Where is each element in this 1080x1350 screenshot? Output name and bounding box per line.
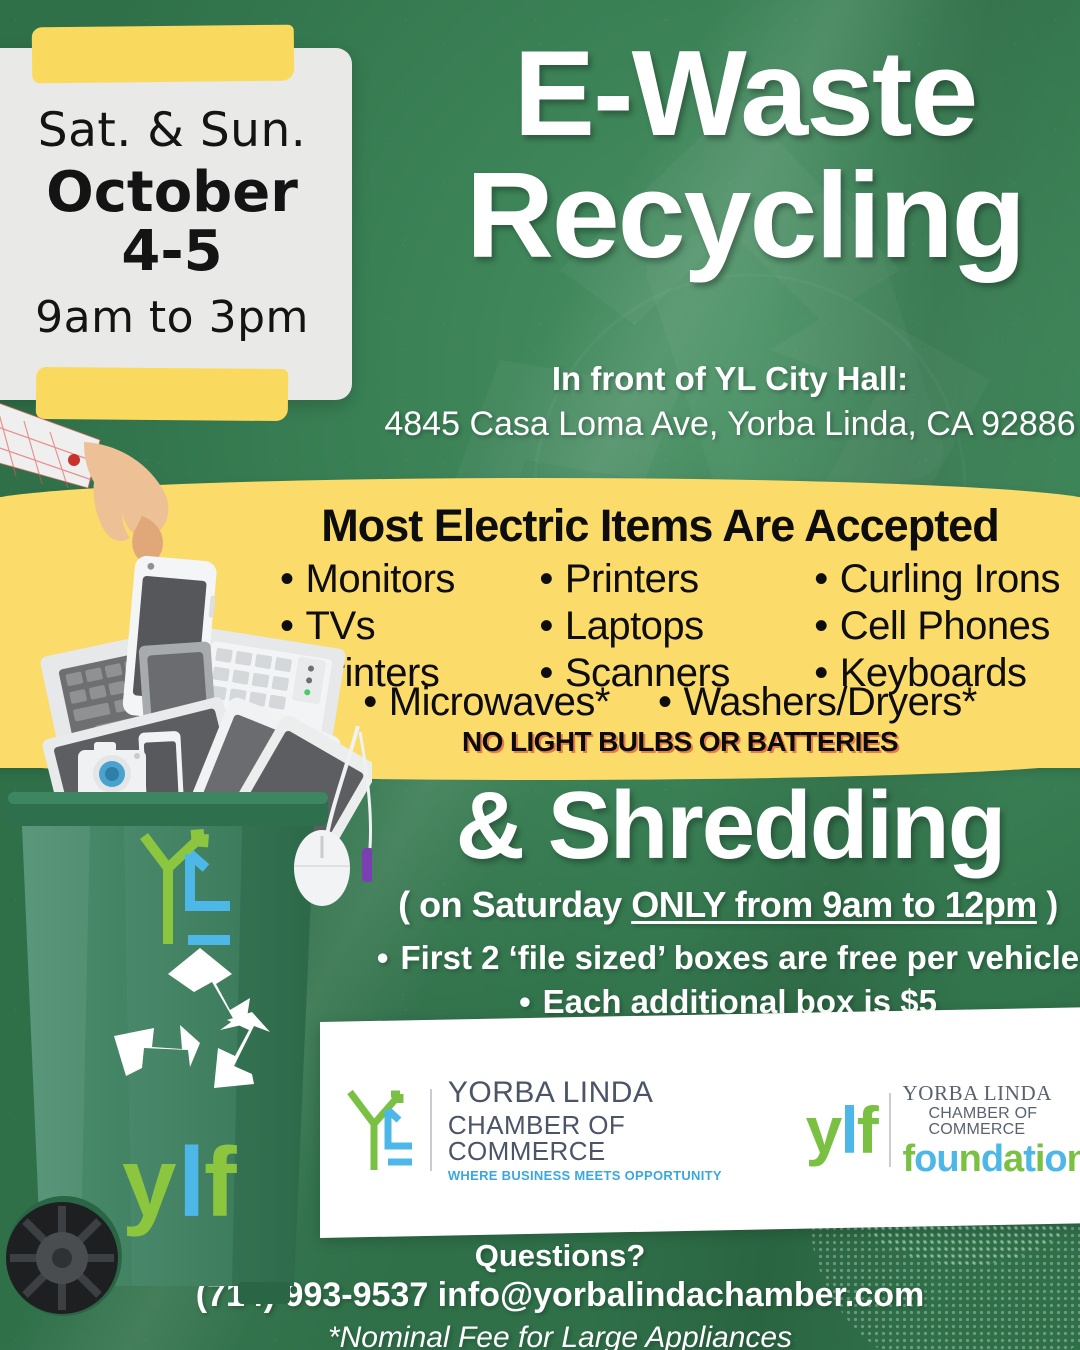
shredding-hours-emphasis: ONLY from 9am to 12pm [631,884,1037,925]
ylf-logo-wordmark: YORBA LINDA CHAMBER OF COMMERCE foundati… [903,1083,1080,1178]
list-item: Curling Irons [814,556,1060,603]
bin-wheel [6,1196,122,1316]
event-hours: 9am to 3pm [35,294,309,342]
list-item: Washers/Dryers* [658,680,977,725]
list-item: Microwaves* [363,680,610,725]
accepted-items-bottom-row: Microwaves* Washers/Dryers* [280,680,1060,725]
chamber-tagline: WHERE BUSINESS MEETS OPPORTUNITY [448,1169,766,1182]
list-item: Printers [539,556,730,603]
title-line-1: E-Waste [420,34,1070,154]
ylf-letter-y: y [806,1093,841,1167]
event-dates: 4-5 [121,223,222,282]
foundation-word: foundation [903,1140,1080,1178]
warning-no-bulbs-batteries: NO LIGHT BULBS OR BATTERIES [280,726,1080,758]
yorba-linda-chamber-logo: YORBA LINDA CHAMBER OF COMMERCE WHERE BU… [344,1078,766,1182]
shredding-hours-suffix: ) [1037,884,1058,925]
chamber-name-line-2: CHAMBER OF COMMERCE [448,1112,766,1164]
ylf-foundation-logo: ylf YORBA LINDA CHAMBER OF COMMERCE foun… [806,1083,1080,1178]
title-line-2: Recycling [420,156,1070,276]
ylf-logo-divider [889,1093,891,1167]
shredding-hours: ( on Saturday ONLY from 9am to 12pm ) [370,884,1080,926]
shredding-title: & Shredding [380,778,1080,874]
foundation-name-line-2: CHAMBER OF COMMERCE [903,1106,1080,1138]
venue-address: 4845 Casa Loma Ave, Yorba Linda, CA 9288… [380,403,1080,446]
chamber-logo-divider [430,1089,432,1171]
ylf-letter-f: f [857,1093,877,1167]
ylf-letter-l: l [840,1093,856,1167]
logo-bar: YORBA LINDA CHAMBER OF COMMERCE WHERE BU… [320,1022,1080,1238]
shredding-hours-prefix: ( on Saturday [398,884,631,925]
accepted-items-title: Most Electric Items Are Accepted [260,500,1060,552]
list-item: First 2 ‘file sized’ boxes are free per … [370,936,1080,980]
svg-text:f: f [204,1127,237,1237]
svg-text:l: l [178,1127,205,1237]
venue-label: In front of YL City Hall: [380,358,1080,399]
bin-ylf-wordmark: y l f [122,1127,237,1237]
foundation-name-line-1: YORBA LINDA [903,1083,1080,1104]
ylf-wordmark: ylf [806,1097,877,1163]
event-month: October [46,163,298,223]
stylus-icon [360,732,372,882]
chamber-name-line-1: YORBA LINDA [448,1078,766,1108]
page-title: E-Waste Recycling [420,34,1070,275]
svg-text:y: y [122,1127,177,1237]
venue-block: In front of YL City Hall: 4845 Casa Loma… [380,358,1080,446]
date-note-text: Sat. & Sun. October 4-5 9am to 3pm [0,48,352,400]
list-item: Cell Phones [814,603,1060,650]
camera-icon [78,742,146,798]
accepted-column-3: Curling Irons Cell Phones Keyboards [814,556,1060,698]
ewaste-bin-illustration: y l f [0,396,372,1350]
flyer-poster: Sat. & Sun. October 4-5 9am to 3pm E-Was… [0,0,1080,1350]
list-item: Laptops [539,603,730,650]
recycling-bin: y l f [6,792,328,1316]
accepted-column-2: Printers Laptops Scanners [539,556,730,698]
accepted-items-columns: Monitors TVs Printers Printers Laptops S… [280,556,1060,698]
event-days: Sat. & Sun. [38,105,306,157]
chamber-logo-wordmark: YORBA LINDA CHAMBER OF COMMERCE WHERE BU… [448,1078,766,1182]
